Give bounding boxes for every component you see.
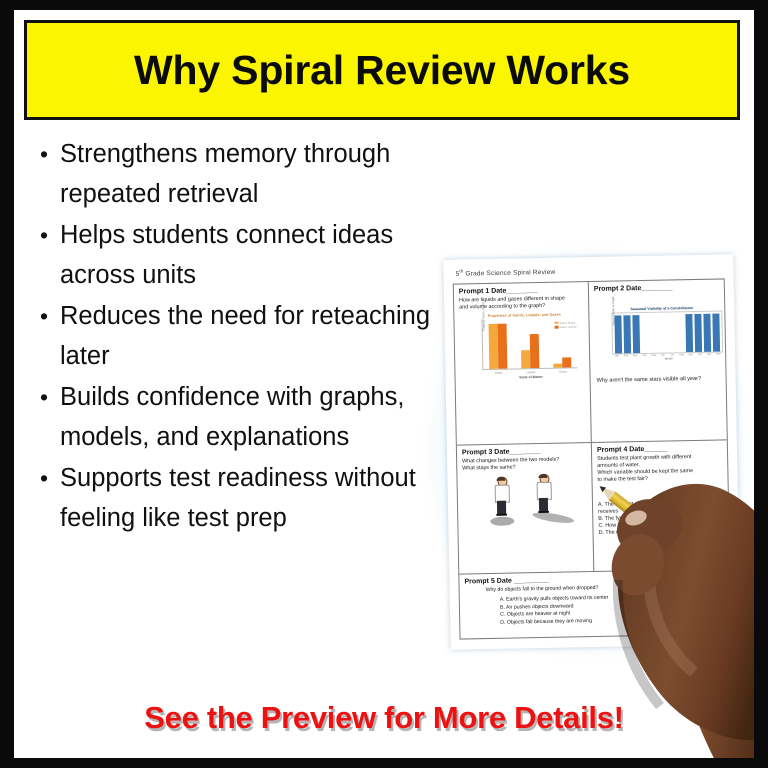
bar — [623, 315, 631, 353]
bar — [712, 314, 720, 352]
list-item-label: Builds confidence with graphs, models, a… — [60, 377, 446, 457]
worksheet-title: 5th Grade Science Spiral Review — [455, 267, 555, 278]
xtick: Solids — [482, 370, 514, 375]
list-item: • Supports test readiness without feelin… — [26, 458, 446, 538]
list-item-label: Reduces the need for reteaching later — [60, 296, 446, 376]
xtick: Mar — [631, 354, 640, 357]
xtick: Feb — [621, 354, 630, 357]
chart-1-plot: Property Score (1-10) Keeps Shape Keeps … — [481, 317, 577, 370]
worksheet-title-rest: Grade Science Spiral Review — [463, 269, 555, 278]
chart-1-xlabel: State of Matter — [483, 374, 580, 380]
prompt-1-heading: Prompt 1 Date________ — [459, 286, 588, 295]
cta-label: See the Preview for More Details! — [144, 700, 623, 736]
benefits-list: • Strengthens memory through repeated re… — [26, 134, 446, 539]
bar — [703, 314, 711, 352]
slide-page: Why Spiral Review Works • Strengthens me… — [14, 10, 754, 758]
prompt-1-question-line2: and volume according to the graph? — [459, 302, 584, 311]
slide-root: Why Spiral Review Works • Strengthens me… — [0, 0, 768, 768]
bar — [694, 314, 702, 352]
bar — [498, 324, 508, 369]
prompt-1-cell: Prompt 1 Date________ How are liquids an… — [454, 282, 592, 446]
chart-seasonal-visibility: Seasonal Visibility of a Constellation H… — [599, 305, 725, 369]
worksheet-grid: Prompt 1 Date________ How are liquids an… — [453, 278, 732, 639]
bullet-marker-icon: • — [26, 296, 60, 336]
prompt-2-heading: Prompt 2 Date________ — [594, 283, 724, 292]
bullet-marker-icon: • — [26, 215, 60, 255]
cta-banner: See the Preview for More Details! — [14, 700, 754, 736]
prompt-4-cell: Prompt 4 Date______ Students test plant … — [592, 440, 729, 572]
list-item: • Strengthens memory through repeated re… — [26, 134, 446, 214]
page-title: Why Spiral Review Works — [134, 47, 630, 94]
bullet-marker-icon: • — [26, 377, 60, 417]
legend-label: Keeps Volume — [560, 326, 577, 329]
bar — [562, 357, 571, 367]
chart-1-legend: Keeps Shape Keeps Volume — [555, 321, 577, 330]
bar — [686, 314, 694, 352]
xtick: Dec — [714, 352, 723, 355]
xtick: Oct — [695, 353, 704, 356]
bar — [553, 363, 562, 368]
list-item-label: Strengthens memory through repeated retr… — [60, 134, 446, 214]
xtick: Nov — [705, 353, 714, 356]
two-models-illustration — [487, 473, 574, 533]
bar-group — [521, 334, 540, 368]
chart-1-ylabel: Property Score (1-10) — [481, 302, 486, 331]
worksheet-preview: 5th Grade Science Spiral Review Prompt 1… — [443, 254, 740, 649]
prompt-2-cell: Prompt 2 Date________ Seasonal Visibilit… — [589, 279, 727, 443]
prompt-5-cell: Prompt 5 Date _________ Why do objects f… — [459, 570, 730, 639]
xtick: Aug — [677, 353, 686, 356]
list-item: • Reduces the need for reteaching later — [26, 296, 446, 376]
list-item: • Helps students connect ideas across un… — [26, 215, 446, 295]
xtick: Jan — [612, 354, 621, 357]
xtick: Liquids — [515, 369, 547, 374]
xtick: May — [649, 354, 658, 357]
title-banner: Why Spiral Review Works — [24, 20, 740, 120]
chart-2-ylabel: Hours Visible at Night — [611, 297, 616, 326]
chart-2-plot: Hours Visible at Night — [611, 310, 723, 354]
xtick: Apr — [640, 354, 649, 357]
prompt-3-cell: Prompt 3 Date________ What changes betwe… — [457, 443, 594, 575]
list-item-label: Supports test readiness without feeling … — [60, 458, 446, 538]
chart-properties-of-matter: Properties of Solids, Liquids, and Gases… — [470, 312, 579, 380]
bar — [530, 334, 540, 368]
model-shadow-short — [490, 517, 514, 526]
prompt-4-choice: D. The results of the test — [598, 528, 724, 537]
prompt-4-heading: Prompt 4 Date______ — [597, 444, 727, 453]
prompt-3-heading: Prompt 3 Date________ — [462, 447, 591, 456]
bullet-marker-icon: • — [26, 458, 60, 498]
xtick: Sep — [686, 353, 695, 356]
prompt-3-question-line2: What stays the same? — [462, 463, 587, 472]
worksheet-footer: 5th Grade Spiral Review — [705, 638, 733, 642]
person-figure-right — [534, 474, 552, 514]
person-figure-left — [492, 477, 510, 517]
bar — [632, 315, 640, 353]
bullet-marker-icon: • — [26, 134, 60, 174]
xtick: Gases — [547, 369, 579, 374]
bar — [521, 350, 530, 368]
prompt-2-question: Why aren't the same stars visible all ye… — [597, 375, 727, 384]
bar-group — [489, 324, 508, 369]
legend-label: Keeps Shape — [560, 322, 576, 325]
list-item: • Builds confidence with graphs, models,… — [26, 377, 446, 457]
legend-entry: Keeps Volume — [555, 326, 577, 331]
prompt-5-choices: A. Earth's gravity pulls objects toward … — [500, 593, 731, 627]
bar-group — [553, 357, 571, 367]
list-item-label: Helps students connect ideas across unit… — [60, 215, 446, 295]
